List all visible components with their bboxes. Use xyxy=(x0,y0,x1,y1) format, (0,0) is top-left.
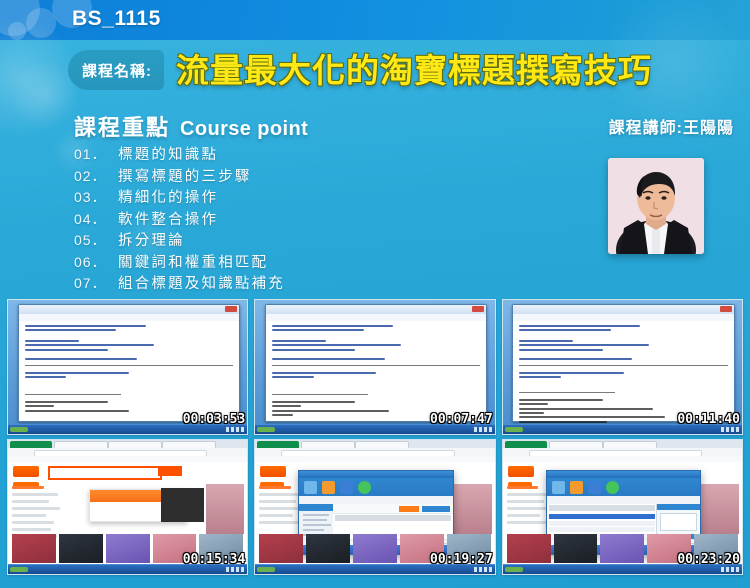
taobao-page xyxy=(503,462,742,565)
screenshot-thumbnail[interactable]: 00:03:53 xyxy=(7,299,248,435)
window-titlebar xyxy=(299,471,452,478)
thumbnail-timestamp: 00:23:20 xyxy=(677,552,740,567)
taobao-logo-icon xyxy=(13,466,39,477)
window-document-body xyxy=(266,321,487,421)
keyword-row[interactable] xyxy=(549,527,655,532)
close-icon xyxy=(720,306,732,312)
window-titlebar xyxy=(547,471,700,478)
course-point-item: 05． 拆分理論 xyxy=(74,229,494,251)
screenshot-thumbnail[interactable]: 00:23:20 xyxy=(502,439,743,575)
panel-textarea[interactable] xyxy=(660,513,697,531)
course-point-number: 03． xyxy=(74,187,118,207)
window-document-body xyxy=(19,321,240,421)
app-icon[interactable] xyxy=(358,481,371,494)
course-point-text: 標題的知識點 xyxy=(118,143,218,164)
window-frame xyxy=(512,304,735,422)
course-point-heading-en: Course point xyxy=(180,118,308,141)
course-point-item: 07． 組合標題及知識點補充 xyxy=(74,272,494,294)
bokeh-circle-icon xyxy=(8,22,26,40)
app-icon[interactable] xyxy=(570,481,583,494)
course-point-item: 06． 關鍵詞和權重相匹配 xyxy=(74,251,494,273)
instructor-label: 課程講師:王陽陽 xyxy=(609,114,734,138)
close-icon xyxy=(225,306,237,312)
screenshot-thumbnail[interactable]: 00:15:34 xyxy=(7,439,248,575)
course-point-number: 02． xyxy=(74,166,118,186)
start-button[interactable] xyxy=(10,427,28,432)
course-poster: BS_1115 課程名稱: 流量最大化的淘寶標題撰寫技巧 課程重點 Course… xyxy=(0,0,750,588)
product-model-image xyxy=(206,484,244,534)
app-icon[interactable] xyxy=(322,481,335,494)
system-tray xyxy=(226,427,244,432)
panel-header xyxy=(657,504,700,510)
course-name-row: 課程名稱: 流量最大化的淘寶標題撰寫技巧 xyxy=(68,48,652,92)
secondary-action-button[interactable] xyxy=(422,506,450,512)
start-button[interactable] xyxy=(257,567,275,572)
system-tray xyxy=(474,427,492,432)
screenshot-thumbnail[interactable]: 00:19:27 xyxy=(254,439,495,575)
app-table-toolbar xyxy=(333,504,452,514)
course-point-heading: 課程重點 Course point xyxy=(74,110,308,142)
thumbnail-timestamp: 00:07:47 xyxy=(430,412,493,427)
product-card[interactable] xyxy=(600,534,644,563)
screenshot-thumbnail[interactable]: 00:11:40 xyxy=(502,299,743,435)
product-card[interactable] xyxy=(353,534,397,563)
taobao-header xyxy=(8,462,247,480)
screenshot-grid: 00:03:53 xyxy=(7,299,743,575)
app-icon[interactable] xyxy=(340,481,353,494)
screenshot-thumbnail[interactable]: 00:07:47 xyxy=(254,299,495,435)
course-point-heading-zh: 課程重點 xyxy=(74,110,170,142)
course-point-text: 拆分理論 xyxy=(118,229,185,250)
course-point-text: 軟件整合操作 xyxy=(118,208,218,229)
taobao-search-input[interactable] xyxy=(48,466,162,480)
course-point-number: 01． xyxy=(74,144,118,164)
app-icon[interactable] xyxy=(588,481,601,494)
course-point-number: 05． xyxy=(74,230,118,250)
window-document-body xyxy=(513,321,734,421)
course-name-label: 課程名稱: xyxy=(68,50,164,90)
bokeh-circle-icon xyxy=(26,8,56,38)
product-card[interactable] xyxy=(259,534,303,563)
product-model-image xyxy=(453,484,491,534)
instructor-block: 課程講師:王陽陽 xyxy=(609,114,734,138)
close-icon xyxy=(472,306,484,312)
taobao-category-sidebar xyxy=(12,486,65,536)
thumbnail-timestamp: 00:15:34 xyxy=(183,552,246,567)
app-icon[interactable] xyxy=(552,481,565,494)
course-point-list: 01． 標題的知識點 02． 撰寫標題的三步驟 03． 精細化的操作 04． 軟… xyxy=(74,143,494,294)
table-header-row xyxy=(335,515,450,521)
app-toolbar xyxy=(547,478,700,496)
product-card[interactable] xyxy=(59,534,103,563)
taobao-page xyxy=(255,462,494,565)
product-card[interactable] xyxy=(507,534,551,563)
course-point-text: 撰寫標題的三步驟 xyxy=(118,165,252,186)
system-tray xyxy=(721,427,739,432)
course-point-text: 關鍵詞和權重相匹配 xyxy=(118,251,268,272)
taobao-logo-icon xyxy=(508,466,534,477)
course-point-item: 04． 軟件整合操作 xyxy=(74,208,494,230)
page-title: BS_1115 xyxy=(72,7,161,31)
course-point-number: 07． xyxy=(74,273,118,293)
taobao-logo-icon xyxy=(260,466,286,477)
thumbnail-timestamp: 00:11:40 xyxy=(677,412,740,427)
product-card[interactable] xyxy=(106,534,150,563)
course-point-item: 01． 標題的知識點 xyxy=(74,143,494,165)
app-icon[interactable] xyxy=(304,481,317,494)
course-point-text: 精細化的操作 xyxy=(118,186,218,207)
keyword-row[interactable] xyxy=(549,514,655,519)
start-button[interactable] xyxy=(505,427,523,432)
start-button[interactable] xyxy=(257,427,275,432)
app-toolbar xyxy=(299,478,452,496)
course-name-value: 流量最大化的淘寶標題撰寫技巧 xyxy=(176,54,652,87)
start-button[interactable] xyxy=(505,567,523,572)
keyword-row[interactable] xyxy=(549,521,655,526)
course-point-item: 03． 精細化的操作 xyxy=(74,186,494,208)
course-point-number: 06． xyxy=(74,252,118,272)
window-frame xyxy=(265,304,488,422)
product-card[interactable] xyxy=(12,534,56,563)
table-header-row xyxy=(549,505,655,511)
promo-banner xyxy=(161,488,204,522)
system-tray xyxy=(226,567,244,572)
header-bar: BS_1115 xyxy=(0,0,750,40)
taobao-search-button[interactable] xyxy=(158,466,182,476)
taobao-page xyxy=(8,462,247,565)
thumbnail-timestamp: 00:19:27 xyxy=(430,552,493,567)
course-point-item: 02． 撰寫標題的三步驟 xyxy=(74,165,494,187)
system-tray xyxy=(721,567,739,572)
course-point-text: 組合標題及知識點補充 xyxy=(118,272,285,293)
instructor-avatar xyxy=(608,158,704,254)
product-card[interactable] xyxy=(554,534,598,563)
course-point-number: 04． xyxy=(74,209,118,229)
primary-action-button[interactable] xyxy=(399,506,419,512)
start-button[interactable] xyxy=(10,567,28,572)
system-tray xyxy=(474,567,492,572)
product-model-image xyxy=(701,484,739,534)
window-frame xyxy=(18,304,241,422)
app-icon[interactable] xyxy=(606,481,619,494)
product-card[interactable] xyxy=(306,534,350,563)
thumbnail-timestamp: 00:03:53 xyxy=(183,412,246,427)
